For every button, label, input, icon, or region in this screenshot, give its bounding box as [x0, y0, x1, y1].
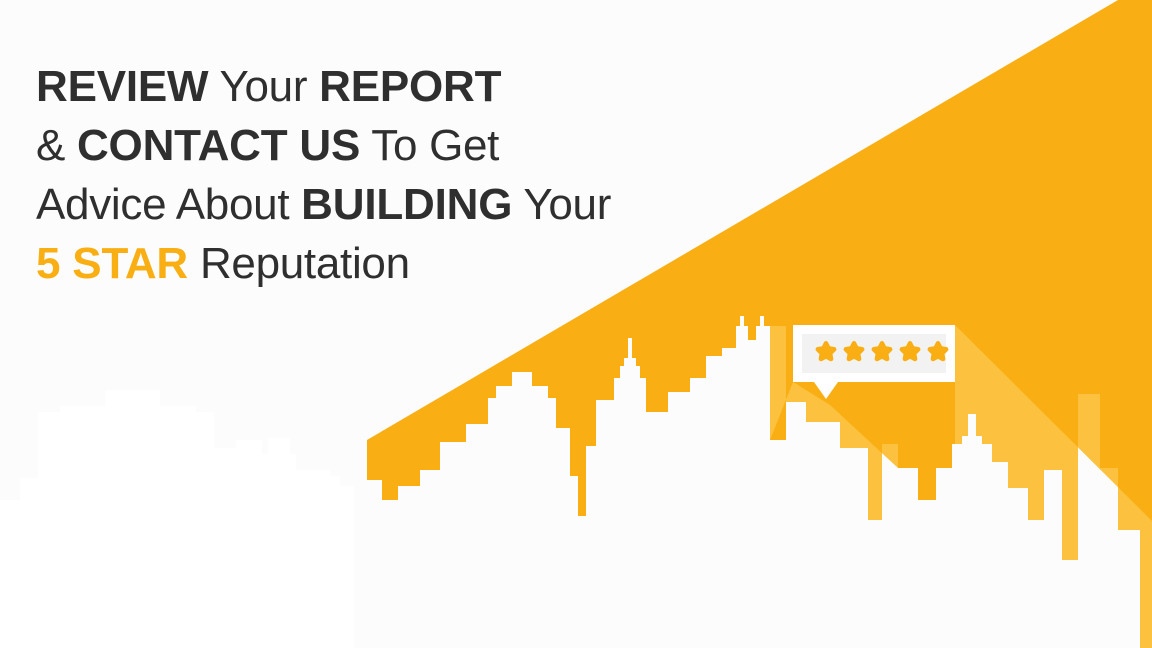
headline-line1-part1: REVIEW: [36, 62, 208, 111]
page-title: REVIEW Your REPORT & CONTACT US To Get A…: [36, 57, 796, 293]
headline-line-1: REVIEW Your REPORT: [36, 57, 796, 116]
headline-line-3: Advice About BUILDING Your: [36, 175, 796, 234]
left-building-e: [300, 476, 354, 648]
headline-line4-accent: 5 STAR: [36, 239, 188, 288]
headline-line3-part2: BUILDING: [301, 180, 512, 229]
banner-canvas: REVIEW Your REPORT & CONTACT US To Get A…: [0, 0, 1152, 648]
headline-line1-part2: Your: [208, 62, 319, 111]
headline-line-2: & CONTACT US To Get: [36, 116, 796, 175]
headline-line2-part1: &: [36, 121, 77, 170]
headline-line3-part3: Your: [512, 180, 611, 229]
headline-line1-part3: REPORT: [319, 62, 501, 111]
headline-line-4: 5 STAR Reputation: [36, 234, 796, 293]
headline-line2-part3: To Get: [360, 121, 499, 170]
headline-line2-part2: CONTACT US: [77, 121, 360, 170]
headline-line4-part2: Reputation: [188, 239, 410, 288]
left-building-f: [0, 500, 26, 648]
headline-line3-part1: Advice About: [36, 180, 301, 229]
